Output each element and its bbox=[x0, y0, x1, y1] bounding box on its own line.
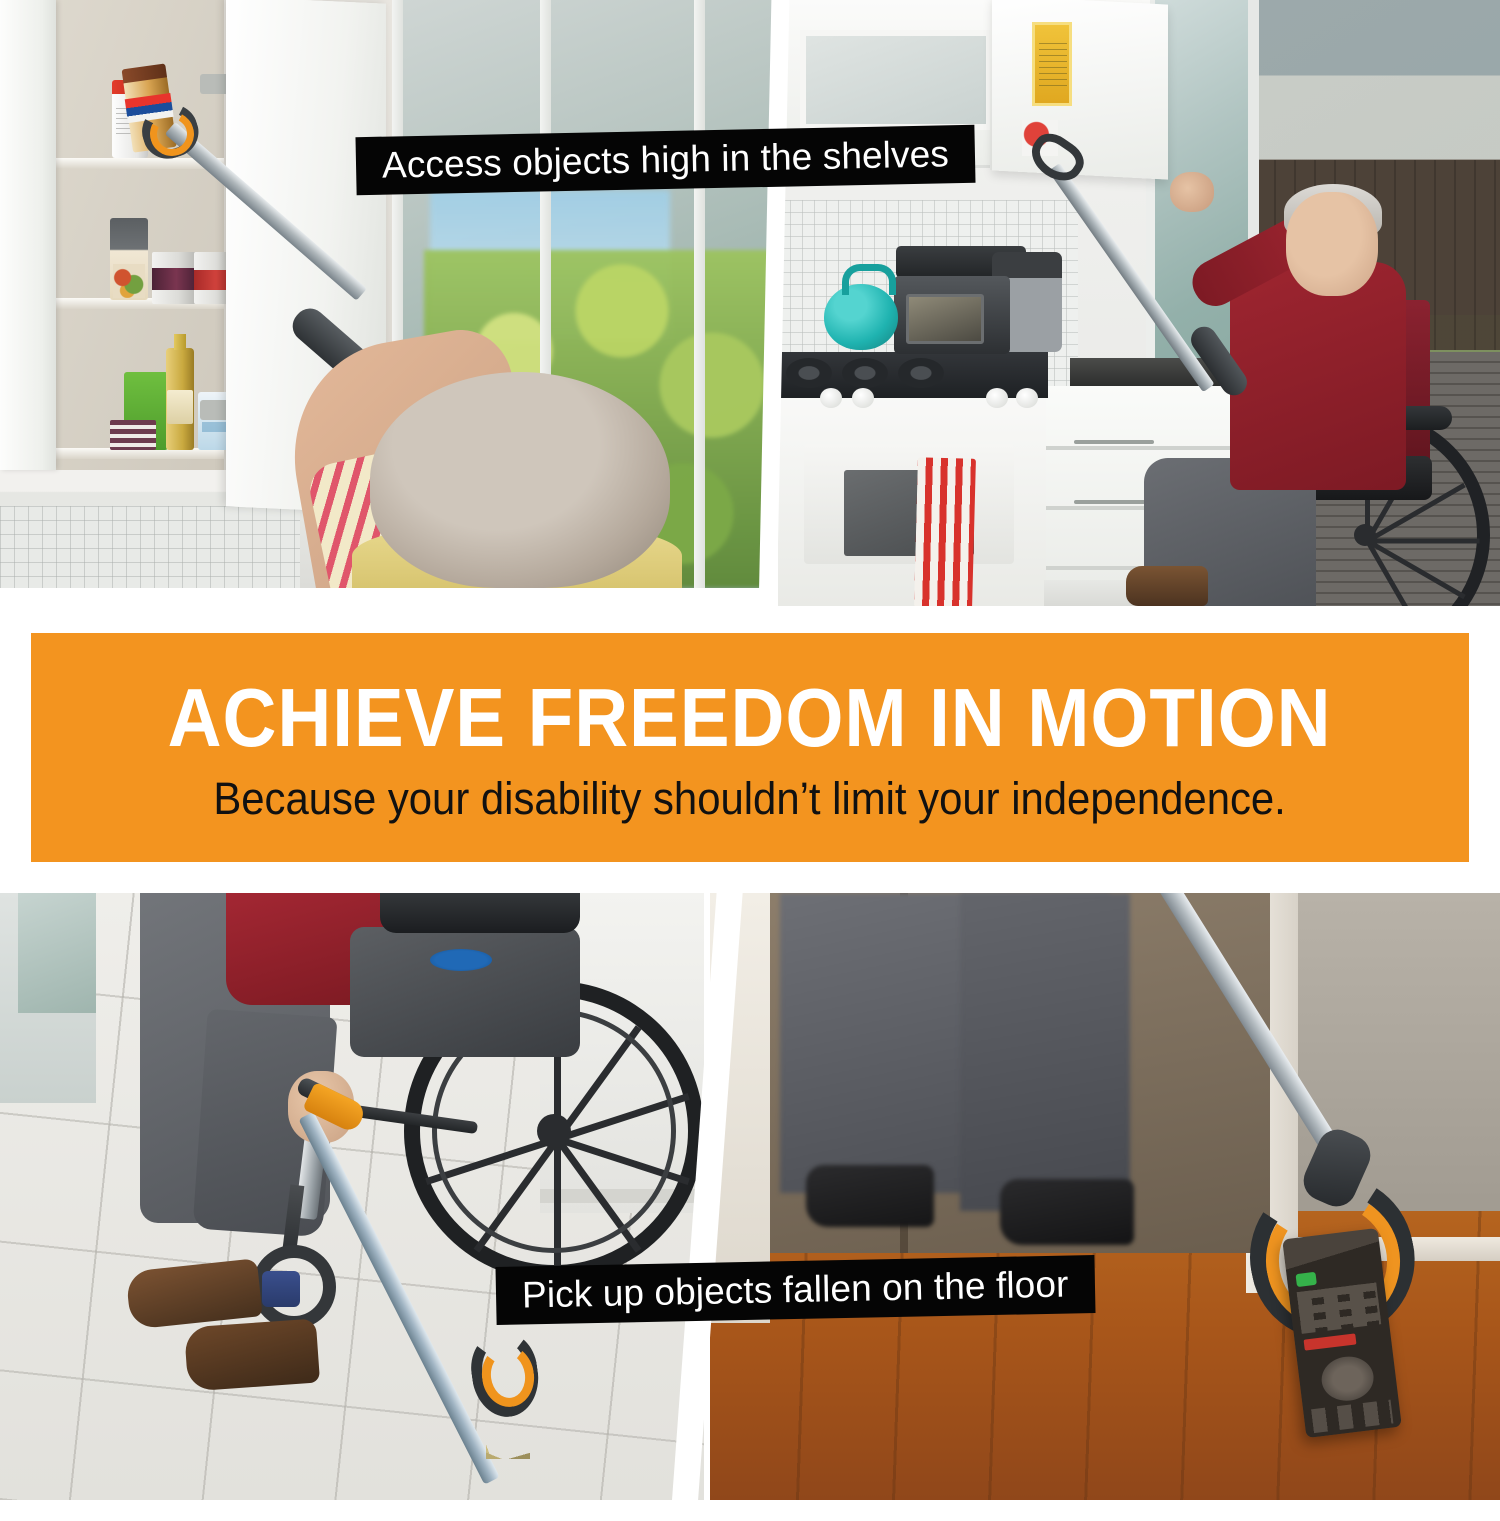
photo-picking-remote bbox=[710, 893, 1500, 1500]
man-shoe-right bbox=[184, 1318, 320, 1391]
toaster-oven bbox=[894, 276, 1010, 354]
caption-access-objects: Access objects high in the shelves bbox=[355, 125, 975, 195]
caption-top-text: Access objects high in the shelves bbox=[382, 133, 950, 186]
wall-tile bbox=[0, 506, 300, 588]
remote-keypad-lower bbox=[1311, 1400, 1393, 1434]
burner-1 bbox=[786, 358, 832, 388]
stove-knob-4 bbox=[1016, 388, 1038, 408]
man-head bbox=[1286, 192, 1378, 296]
wheelchair-brand-badge bbox=[430, 949, 492, 971]
person-shoe-left bbox=[806, 1165, 934, 1227]
photo-row-top: Access objects high in the shelves bbox=[0, 0, 1500, 610]
stove-knob-1 bbox=[820, 388, 842, 408]
olive-oil-bottle bbox=[166, 348, 194, 450]
person-leg-right bbox=[960, 893, 1130, 1211]
photo-pantry-cabinet bbox=[0, 0, 772, 588]
burner-2 bbox=[842, 358, 888, 388]
remote-keypad-upper bbox=[1297, 1282, 1382, 1333]
stove-knob-3 bbox=[986, 388, 1008, 408]
man-torso-sweater bbox=[1230, 262, 1406, 490]
remote-red-button bbox=[1304, 1333, 1357, 1350]
caption-pick-up-objects: Pick up objects fallen on the floor bbox=[495, 1255, 1095, 1325]
window-mullion-right bbox=[694, 0, 705, 588]
caption-bottom-text: Pick up objects fallen on the floor bbox=[522, 1264, 1069, 1317]
person-head-back bbox=[370, 372, 670, 588]
striped-towel bbox=[914, 457, 976, 606]
banner-subheadline: Because your disability shouldn’t limit … bbox=[214, 775, 1286, 822]
infographic-page: Access objects high in the shelves ACHIE… bbox=[0, 0, 1500, 1500]
man-sock bbox=[262, 1271, 300, 1307]
photo-picking-keys bbox=[0, 893, 704, 1500]
wheelchair-backrest bbox=[350, 927, 580, 1057]
remote-power-button bbox=[1295, 1272, 1316, 1287]
person-shoe-right bbox=[1000, 1179, 1134, 1245]
left-glass-door bbox=[18, 893, 96, 1013]
photo-kitchen-wheelchair bbox=[778, 0, 1500, 606]
wheelchair-armrest bbox=[380, 893, 580, 933]
remote-dpad bbox=[1319, 1354, 1376, 1404]
stove-knob-2 bbox=[852, 388, 874, 408]
cabinet-door-closed bbox=[0, 0, 56, 470]
man-hand bbox=[1170, 172, 1214, 212]
banner-headline: ACHIEVE FREEDOM IN MOTION bbox=[168, 677, 1332, 758]
keys-on-floor bbox=[486, 1411, 530, 1459]
pasta-box bbox=[110, 218, 148, 300]
stacked-plates bbox=[110, 420, 156, 450]
canned-beans-1 bbox=[152, 252, 196, 304]
teal-kettle bbox=[824, 284, 898, 350]
drawer-seam-1 bbox=[1044, 446, 1254, 450]
man-shoe bbox=[1126, 566, 1208, 606]
wheel-spoke bbox=[1365, 540, 1425, 606]
wheel-spoke bbox=[1368, 539, 1480, 544]
promo-banner: ACHIEVE FREEDOM IN MOTION Because your d… bbox=[31, 633, 1469, 862]
drawer-handle-2 bbox=[1074, 500, 1154, 504]
burner-3 bbox=[898, 358, 944, 388]
cabinet-package bbox=[1032, 22, 1072, 106]
photo-row-bottom: Pick up objects fallen on the floor bbox=[0, 893, 1500, 1500]
drawer-handle-1 bbox=[1074, 440, 1154, 444]
